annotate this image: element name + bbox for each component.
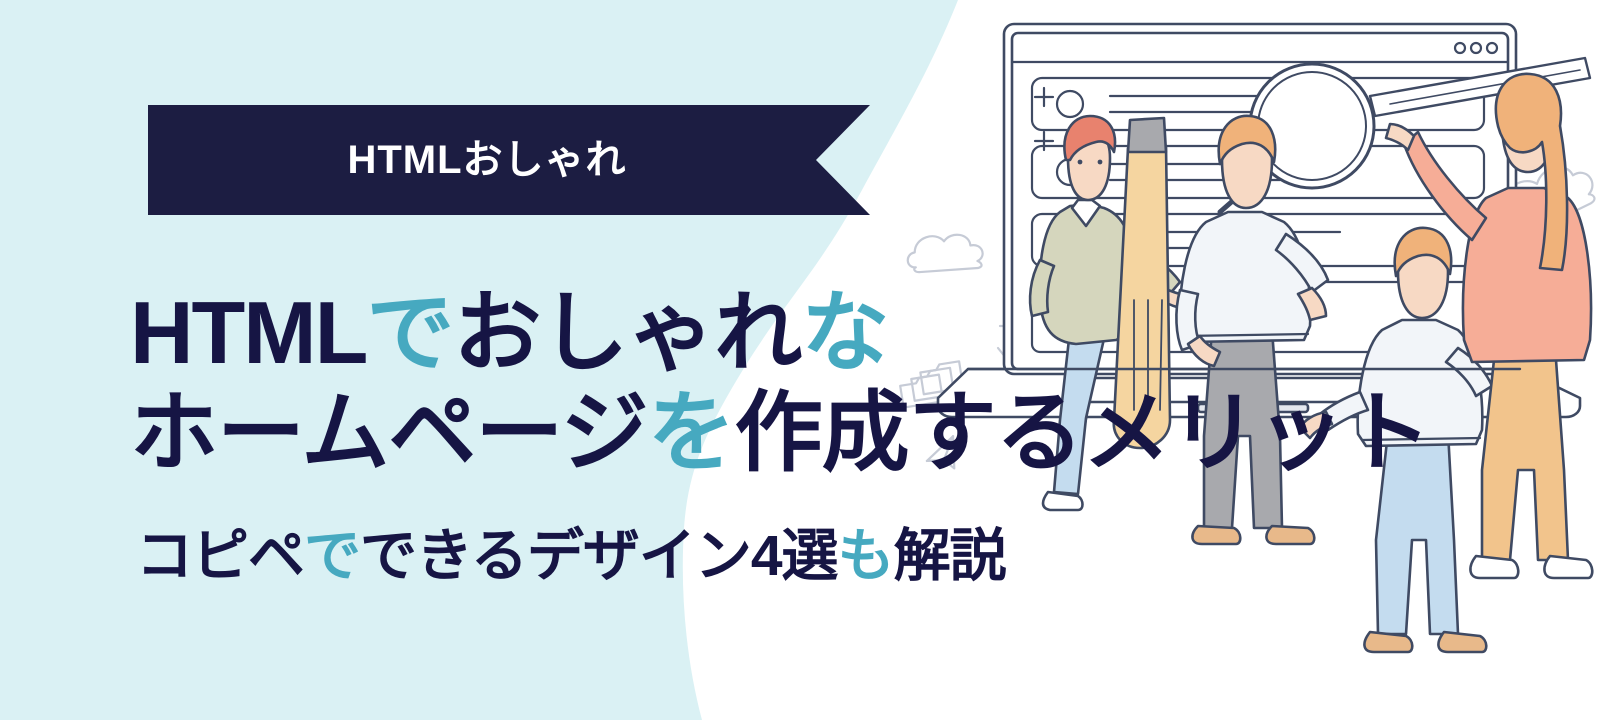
headline-seg-homepage: ホームページ	[130, 383, 648, 482]
subtitle-seg-de: で	[304, 524, 360, 588]
headline-seg-na: な	[801, 283, 888, 382]
headline-seg-merit: 作成するメリット	[735, 383, 1431, 482]
headline-seg-html: HTML	[130, 283, 366, 382]
ribbon-badge: HTMLおしゃれ	[148, 105, 870, 215]
headline-seg-wo: を	[648, 383, 735, 482]
subtitle-seg-mo: も	[838, 524, 894, 588]
ribbon-label: HTMLおしゃれ	[347, 140, 670, 180]
headline-seg-oshare: おしゃれ	[453, 283, 801, 382]
headline-line-1: HTMLでおしゃれな	[130, 288, 1431, 378]
hero-banner: HTMLおしゃれ HTMLでおしゃれな ホームページを作成するメリット コピペで…	[0, 0, 1620, 720]
subtitle-seg-copipe: コピペ	[136, 524, 304, 588]
page-title: HTMLでおしゃれな ホームページを作成するメリット	[130, 288, 1431, 478]
headline-seg-de: で	[366, 283, 453, 382]
page-subtitle: コピペでできるデザイン4選も解説	[136, 528, 1006, 585]
subtitle-seg-kaisetsu: 解説	[894, 524, 1006, 588]
subtitle-seg-design4: できるデザイン4選	[360, 524, 838, 588]
headline-line-2: ホームページを作成するメリット	[130, 388, 1431, 478]
